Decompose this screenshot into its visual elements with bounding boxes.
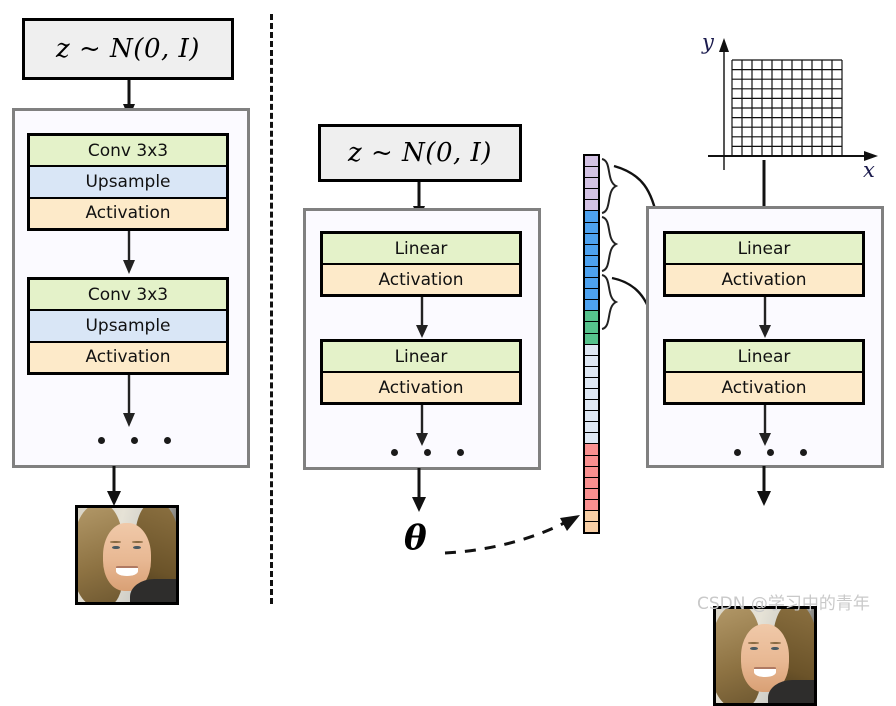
- vertical-divider: [270, 14, 273, 604]
- weight-vector-bar: [583, 154, 600, 534]
- network-container-right: Linear Activation Linear Activation: [646, 206, 884, 468]
- layer-activation-r2: Activation: [666, 373, 862, 402]
- arrow-block1-to-block2-left: [113, 231, 153, 277]
- ellipsis-middle: [391, 449, 464, 456]
- latent-box-left: z ~ N(0, I): [22, 18, 234, 80]
- linear-block-right-2: Linear Activation: [663, 339, 865, 405]
- weight-segment-11: [585, 278, 598, 289]
- weight-segment-28: [585, 467, 598, 478]
- weight-segment-19: [585, 367, 598, 378]
- latent-label-left: z ~ N(0, I): [56, 34, 200, 64]
- weight-segment-6: [585, 223, 598, 234]
- y-axis-label: y: [702, 30, 714, 54]
- weight-segment-13: [585, 300, 598, 311]
- weight-segment-18: [585, 356, 598, 367]
- output-image-left: [75, 505, 179, 605]
- weight-segment-15: [585, 322, 598, 333]
- weight-segment-14: [585, 311, 598, 322]
- layer-activation-r1: Activation: [666, 265, 862, 294]
- diagram-canvas: z ~ N(0, I) Conv 3x3 Upsample Activation…: [0, 0, 896, 621]
- weight-segment-25: [585, 433, 598, 444]
- layer-conv-2: Conv 3x3: [30, 280, 226, 311]
- weight-segment-30: [585, 489, 598, 500]
- layer-linear-r2: Linear: [666, 342, 862, 373]
- weight-segment-16: [585, 334, 598, 345]
- layer-activation-m1: Activation: [323, 265, 519, 294]
- weight-segment-17: [585, 345, 598, 356]
- layer-conv-1: Conv 3x3: [30, 136, 226, 167]
- x-axis-label: x: [863, 158, 875, 182]
- weight-segment-27: [585, 456, 598, 467]
- arrow-rblock2-to-ellipsis: [749, 405, 789, 449]
- arrow-block2-to-ellipsis-left: [113, 375, 153, 431]
- linear-block-right-1: Linear Activation: [663, 231, 865, 297]
- layer-linear-m2: Linear: [323, 342, 519, 373]
- weight-segment-26: [585, 444, 598, 455]
- network-container-middle: Linear Activation Linear Activation: [303, 208, 541, 470]
- weight-segment-9: [585, 256, 598, 267]
- weight-segment-12: [585, 289, 598, 300]
- weight-segment-33: [585, 522, 598, 532]
- linear-block-middle-1: Linear Activation: [320, 231, 522, 297]
- layer-upsample-1: Upsample: [30, 167, 226, 198]
- linear-block-middle-2: Linear Activation: [320, 339, 522, 405]
- weight-segment-21: [585, 389, 598, 400]
- conv-block-1: Conv 3x3 Upsample Activation: [27, 133, 229, 231]
- weight-segment-5: [585, 211, 598, 222]
- layer-activation-2: Activation: [30, 343, 226, 372]
- arrow-mblock1-to-mblock2: [406, 297, 446, 341]
- arrow-mblock2-to-ellipsis: [406, 405, 446, 449]
- layer-activation-m2: Activation: [323, 373, 519, 402]
- coordinate-grid: y x: [700, 30, 885, 180]
- ellipsis-left: [98, 437, 171, 444]
- layer-linear-m1: Linear: [323, 234, 519, 265]
- weight-segment-4: [585, 200, 598, 211]
- latent-box-middle: z ~ N(0, I): [318, 124, 522, 182]
- weight-segment-7: [585, 234, 598, 245]
- arrow-network-to-output-left: [98, 466, 138, 508]
- weight-segment-32: [585, 511, 598, 522]
- watermark-text: CSDN @学习中的青年: [697, 589, 870, 614]
- conv-block-2: Conv 3x3 Upsample Activation: [27, 277, 229, 375]
- layer-activation-1: Activation: [30, 199, 226, 228]
- weight-segment-31: [585, 500, 598, 511]
- weight-segment-0: [585, 156, 598, 167]
- latent-label-middle: z ~ N(0, I): [348, 138, 492, 168]
- weight-segment-1: [585, 167, 598, 178]
- layer-upsample-2: Upsample: [30, 311, 226, 342]
- arrow-rblock1-to-rblock2: [749, 297, 789, 341]
- weight-segment-29: [585, 478, 598, 489]
- output-image-right: [713, 606, 817, 706]
- weight-segment-2: [585, 178, 598, 189]
- ellipsis-right: [734, 449, 807, 456]
- weight-segment-24: [585, 422, 598, 433]
- network-container-left: Conv 3x3 Upsample Activation Conv 3x3 Up…: [12, 108, 250, 468]
- weight-segment-20: [585, 378, 598, 389]
- arrow-network-to-output-right: [748, 466, 788, 508]
- weight-segment-10: [585, 267, 598, 278]
- arrow-network-to-theta: [403, 468, 443, 514]
- layer-linear-r1: Linear: [666, 234, 862, 265]
- weight-segment-8: [585, 245, 598, 256]
- arrow-theta-to-weight-vector: [440, 505, 590, 565]
- weight-segment-3: [585, 189, 598, 200]
- theta-label: θ: [404, 518, 427, 558]
- weight-segment-23: [585, 411, 598, 422]
- weight-segment-22: [585, 400, 598, 411]
